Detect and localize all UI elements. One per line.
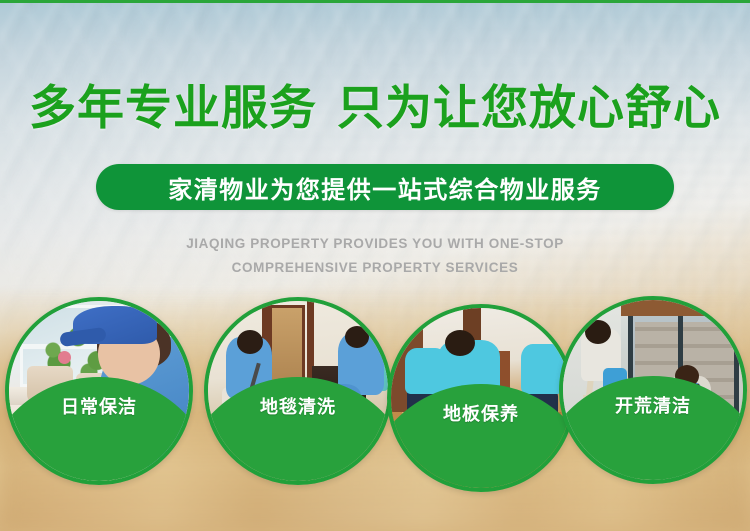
service-circle-post-construction-cleaning[interactable]: 开荒清洁 bbox=[559, 296, 747, 484]
service-circle-floor-maintenance[interactable]: 地板保养 bbox=[387, 304, 575, 492]
service-label: 地板保养 bbox=[443, 400, 519, 426]
service-circle-carpet-cleaning[interactable]: 地毯清洗 bbox=[204, 297, 392, 485]
service-circle-list: 日常保洁 地毯清洗 bbox=[0, 0, 750, 531]
service-label: 日常保洁 bbox=[61, 393, 137, 419]
promotional-banner: 多年专业服务只为让您放心舒心 家清物业为您提供一站式综合物业服务 JIAQING… bbox=[0, 0, 750, 531]
service-circle-daily-cleaning[interactable]: 日常保洁 bbox=[5, 297, 193, 485]
service-label: 地毯清洗 bbox=[260, 393, 336, 419]
service-label: 开荒清洁 bbox=[615, 392, 691, 418]
